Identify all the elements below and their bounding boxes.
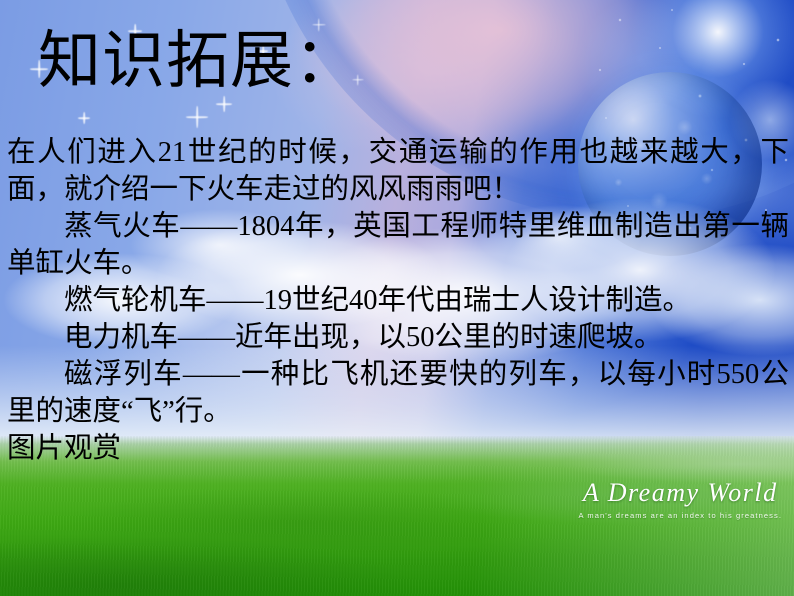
body-paragraph-6: 图片观赏	[7, 430, 789, 467]
body-paragraph-2: 蒸气火车——1804年，英国工程师特里维血制造出第一辆单缸火车。	[7, 208, 789, 282]
slide-title: 知识拓展：	[38, 26, 358, 97]
slide-body: 在人们进入21世纪的时候，交通运输的作用也越来越大，下面，就介绍一下火车走过的风…	[7, 134, 789, 467]
watermark-subtitle: A man's dreams are an index to his great…	[578, 511, 782, 520]
body-paragraph-5: 磁浮列车——一种比飞机还要快的列车，以每小时550公里的速度“飞”行。	[7, 356, 789, 430]
presentation-slide: 知识拓展： 在人们进入21世纪的时候，交通运输的作用也越来越大，下面，就介绍一下…	[0, 0, 794, 596]
sparkle-star	[78, 112, 90, 124]
sparkle-star	[216, 96, 232, 112]
watermark-title: A Dreamy World	[578, 480, 782, 506]
watermark: A Dreamy World A man's dreams are an ind…	[578, 480, 782, 520]
body-paragraph-4: 电力机车——近年出现，以50公里的时速爬坡。	[7, 319, 789, 356]
body-paragraph-3: 燃气轮机车——19世纪40年代由瑞士人设计制造。	[7, 282, 789, 319]
sparkle-star	[186, 106, 208, 128]
body-paragraph-1: 在人们进入21世纪的时候，交通运输的作用也越来越大，下面，就介绍一下火车走过的风…	[7, 134, 789, 208]
